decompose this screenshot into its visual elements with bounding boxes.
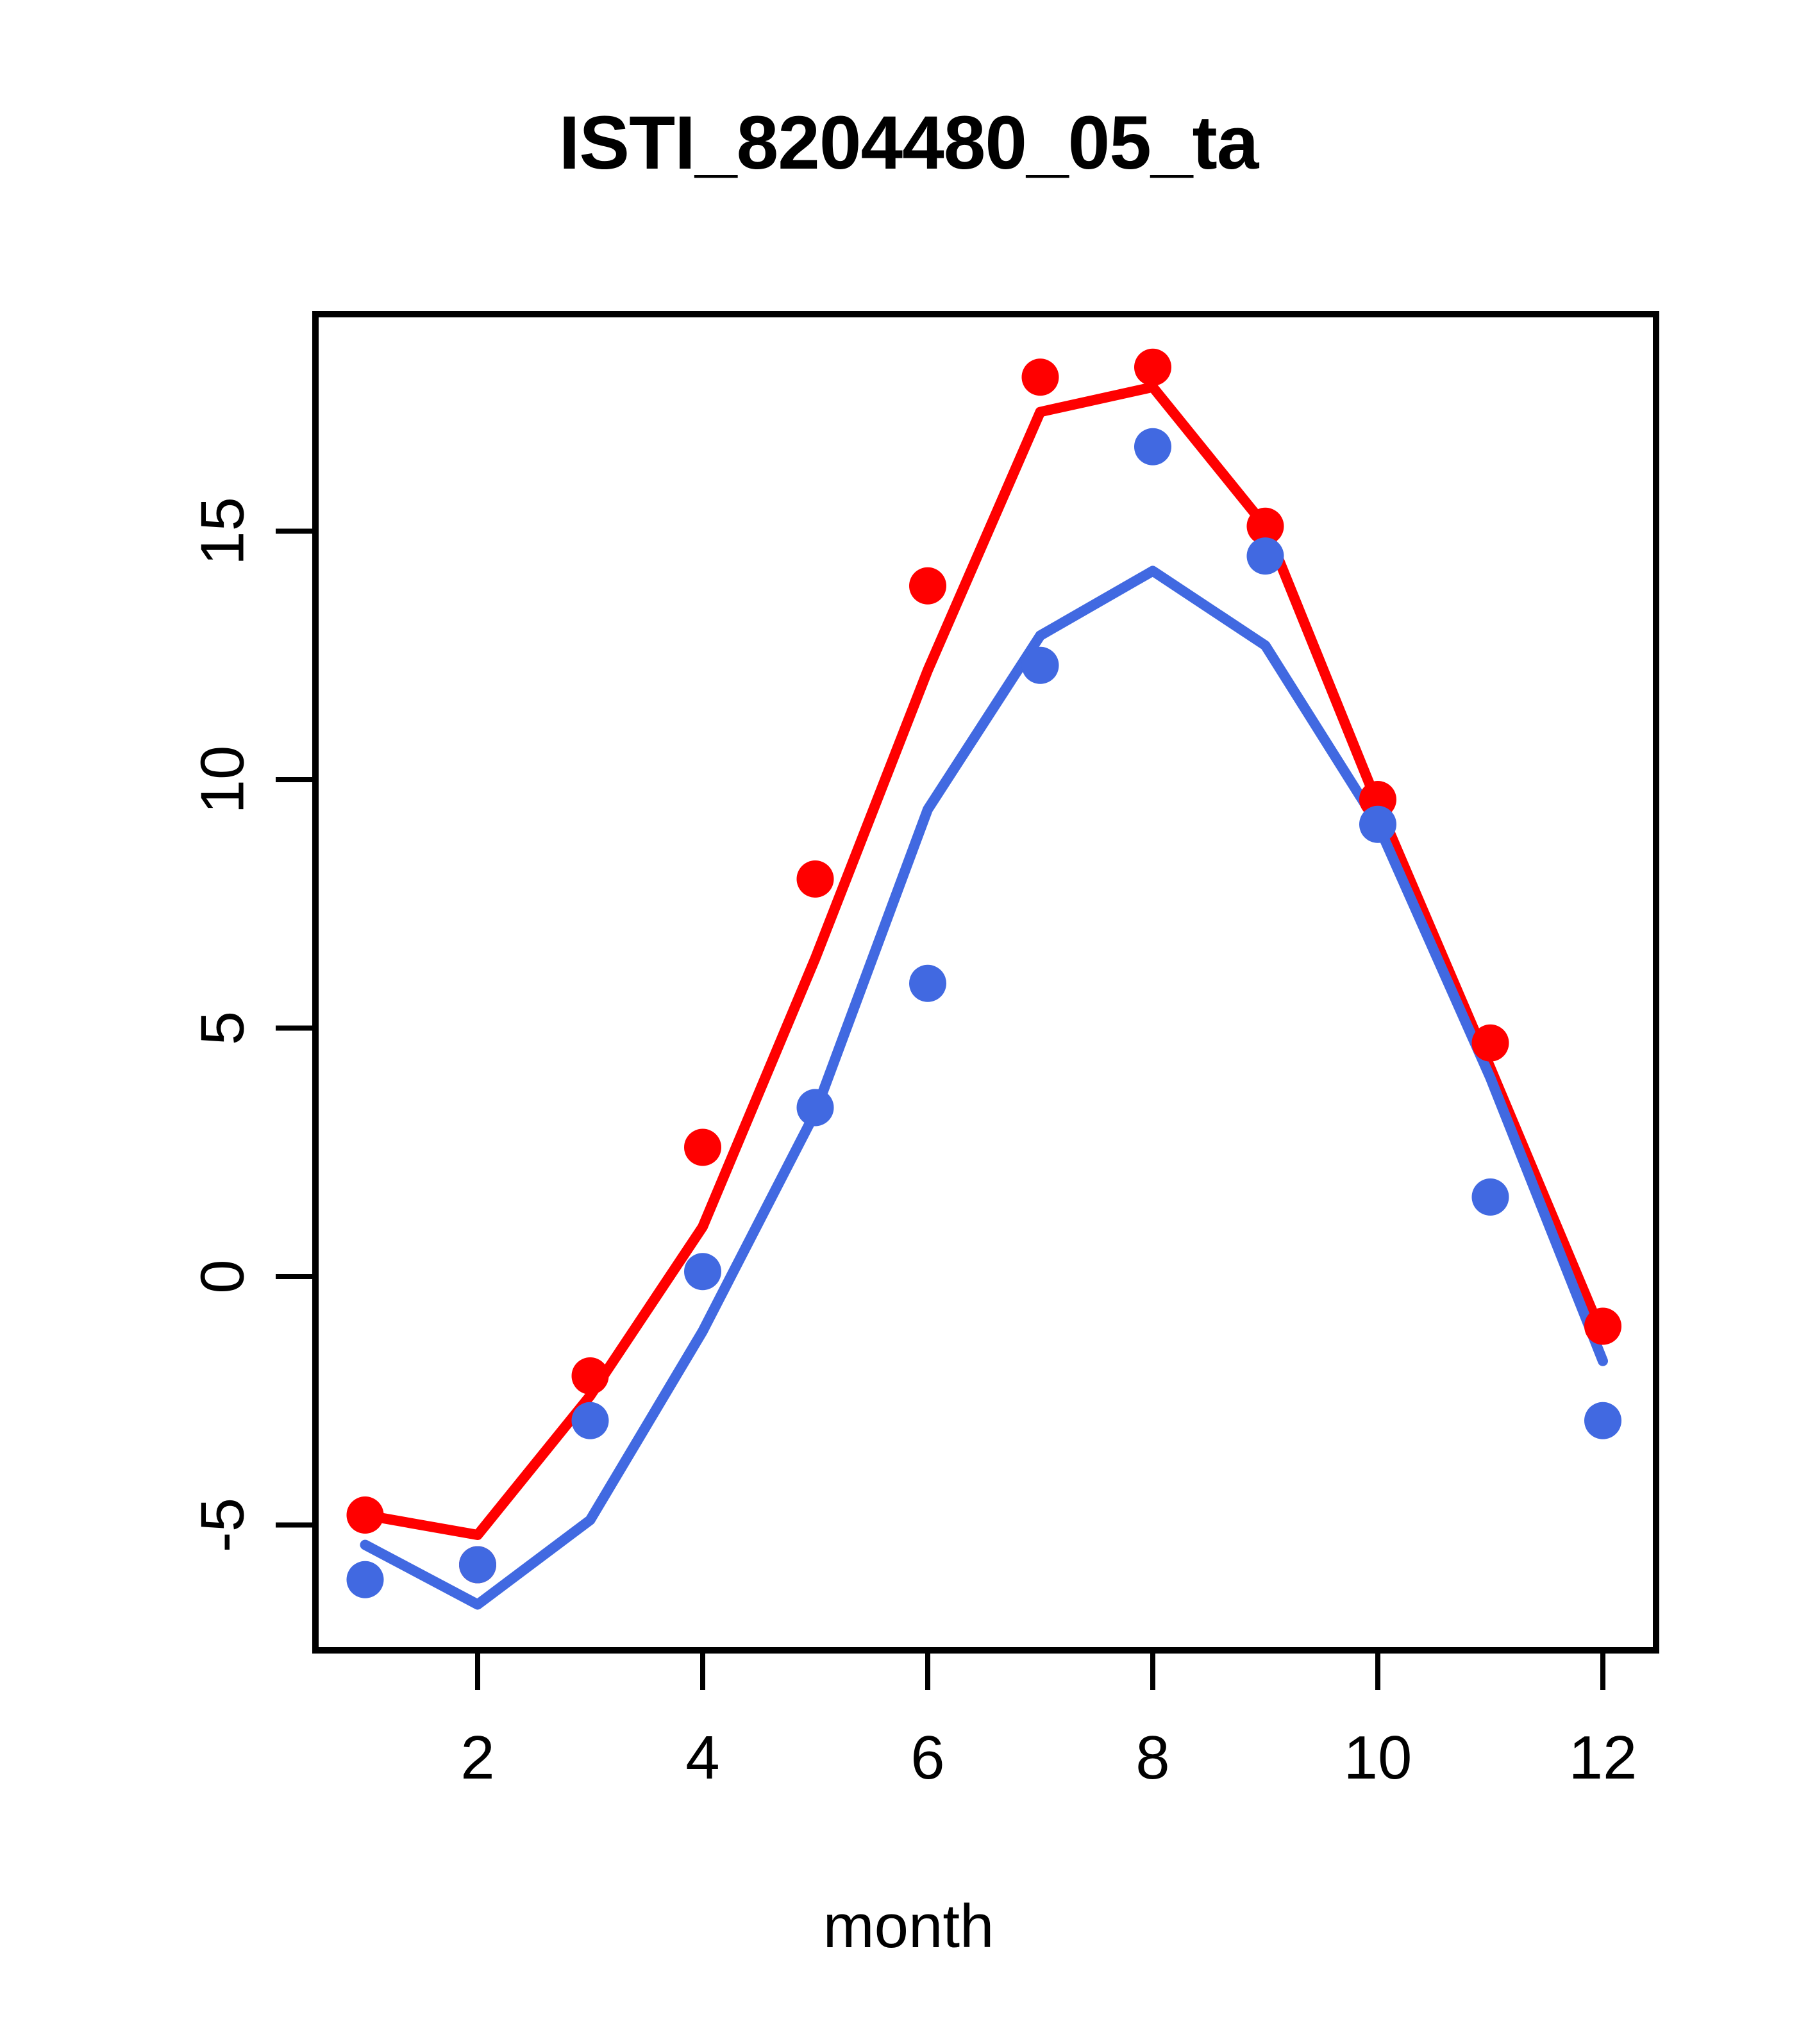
y-axis-tick-label: -5 bbox=[188, 1498, 257, 1552]
data-point-red-points bbox=[684, 1129, 721, 1166]
chart-page: ISTI_8204480_05_ta 24681012-5051015 mont… bbox=[0, 0, 1817, 2044]
data-point-red-points bbox=[1584, 1308, 1621, 1345]
data-point-blue-points bbox=[684, 1253, 721, 1290]
chart-plot-area: 24681012-5051015 bbox=[0, 0, 1817, 2044]
data-point-red-points bbox=[1472, 1025, 1509, 1062]
x-axis-label: month bbox=[0, 1891, 1817, 1962]
data-point-blue-points bbox=[1472, 1178, 1509, 1216]
data-point-red-points bbox=[797, 860, 834, 898]
x-axis-tick-label: 6 bbox=[910, 1723, 944, 1792]
data-point-blue-points bbox=[572, 1402, 609, 1439]
y-axis-tick-label: 0 bbox=[188, 1259, 257, 1293]
x-axis-tick-label: 12 bbox=[1569, 1723, 1637, 1792]
data-point-blue-points bbox=[347, 1561, 384, 1598]
data-point-red-points bbox=[572, 1357, 609, 1395]
data-point-blue-points bbox=[797, 1089, 834, 1127]
series-line-red-line bbox=[365, 387, 1603, 1535]
x-axis-tick-label: 4 bbox=[685, 1723, 719, 1792]
data-point-blue-points bbox=[909, 965, 946, 1002]
data-point-blue-points bbox=[1584, 1402, 1621, 1439]
y-axis-tick-label: 10 bbox=[188, 746, 257, 814]
data-point-blue-points bbox=[459, 1546, 496, 1584]
data-point-blue-points bbox=[1359, 806, 1396, 843]
data-point-red-points bbox=[909, 567, 946, 605]
data-point-blue-points bbox=[1134, 428, 1171, 465]
data-point-blue-points bbox=[1022, 647, 1059, 684]
data-point-red-points bbox=[1022, 358, 1059, 396]
y-axis-tick-label: 15 bbox=[188, 497, 257, 565]
data-point-blue-points bbox=[1247, 537, 1284, 574]
x-axis-tick-label: 8 bbox=[1135, 1723, 1169, 1792]
x-axis-tick-label: 2 bbox=[460, 1723, 494, 1792]
data-point-red-points bbox=[347, 1496, 384, 1534]
y-axis-tick-label: 5 bbox=[188, 1011, 257, 1045]
data-point-red-points bbox=[1134, 349, 1171, 386]
x-axis-tick-label: 10 bbox=[1344, 1723, 1412, 1792]
